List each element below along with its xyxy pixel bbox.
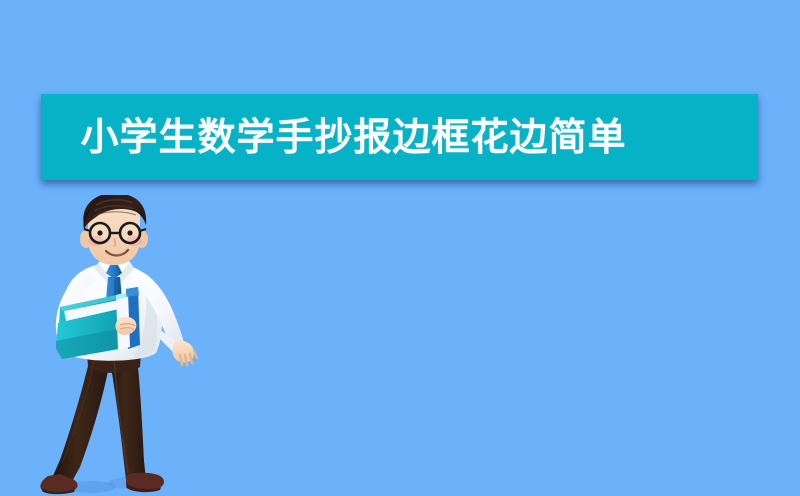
right-hand [172, 341, 197, 365]
head [80, 195, 148, 265]
page-title: 小学生数学手抄报边框花边简单 [80, 118, 626, 156]
illustration-walking-man [30, 195, 210, 496]
page-root: 小学生数学手抄报边框花边简单 [0, 0, 800, 496]
title-banner: 小学生数学手抄报边框花边简单 [41, 94, 758, 180]
